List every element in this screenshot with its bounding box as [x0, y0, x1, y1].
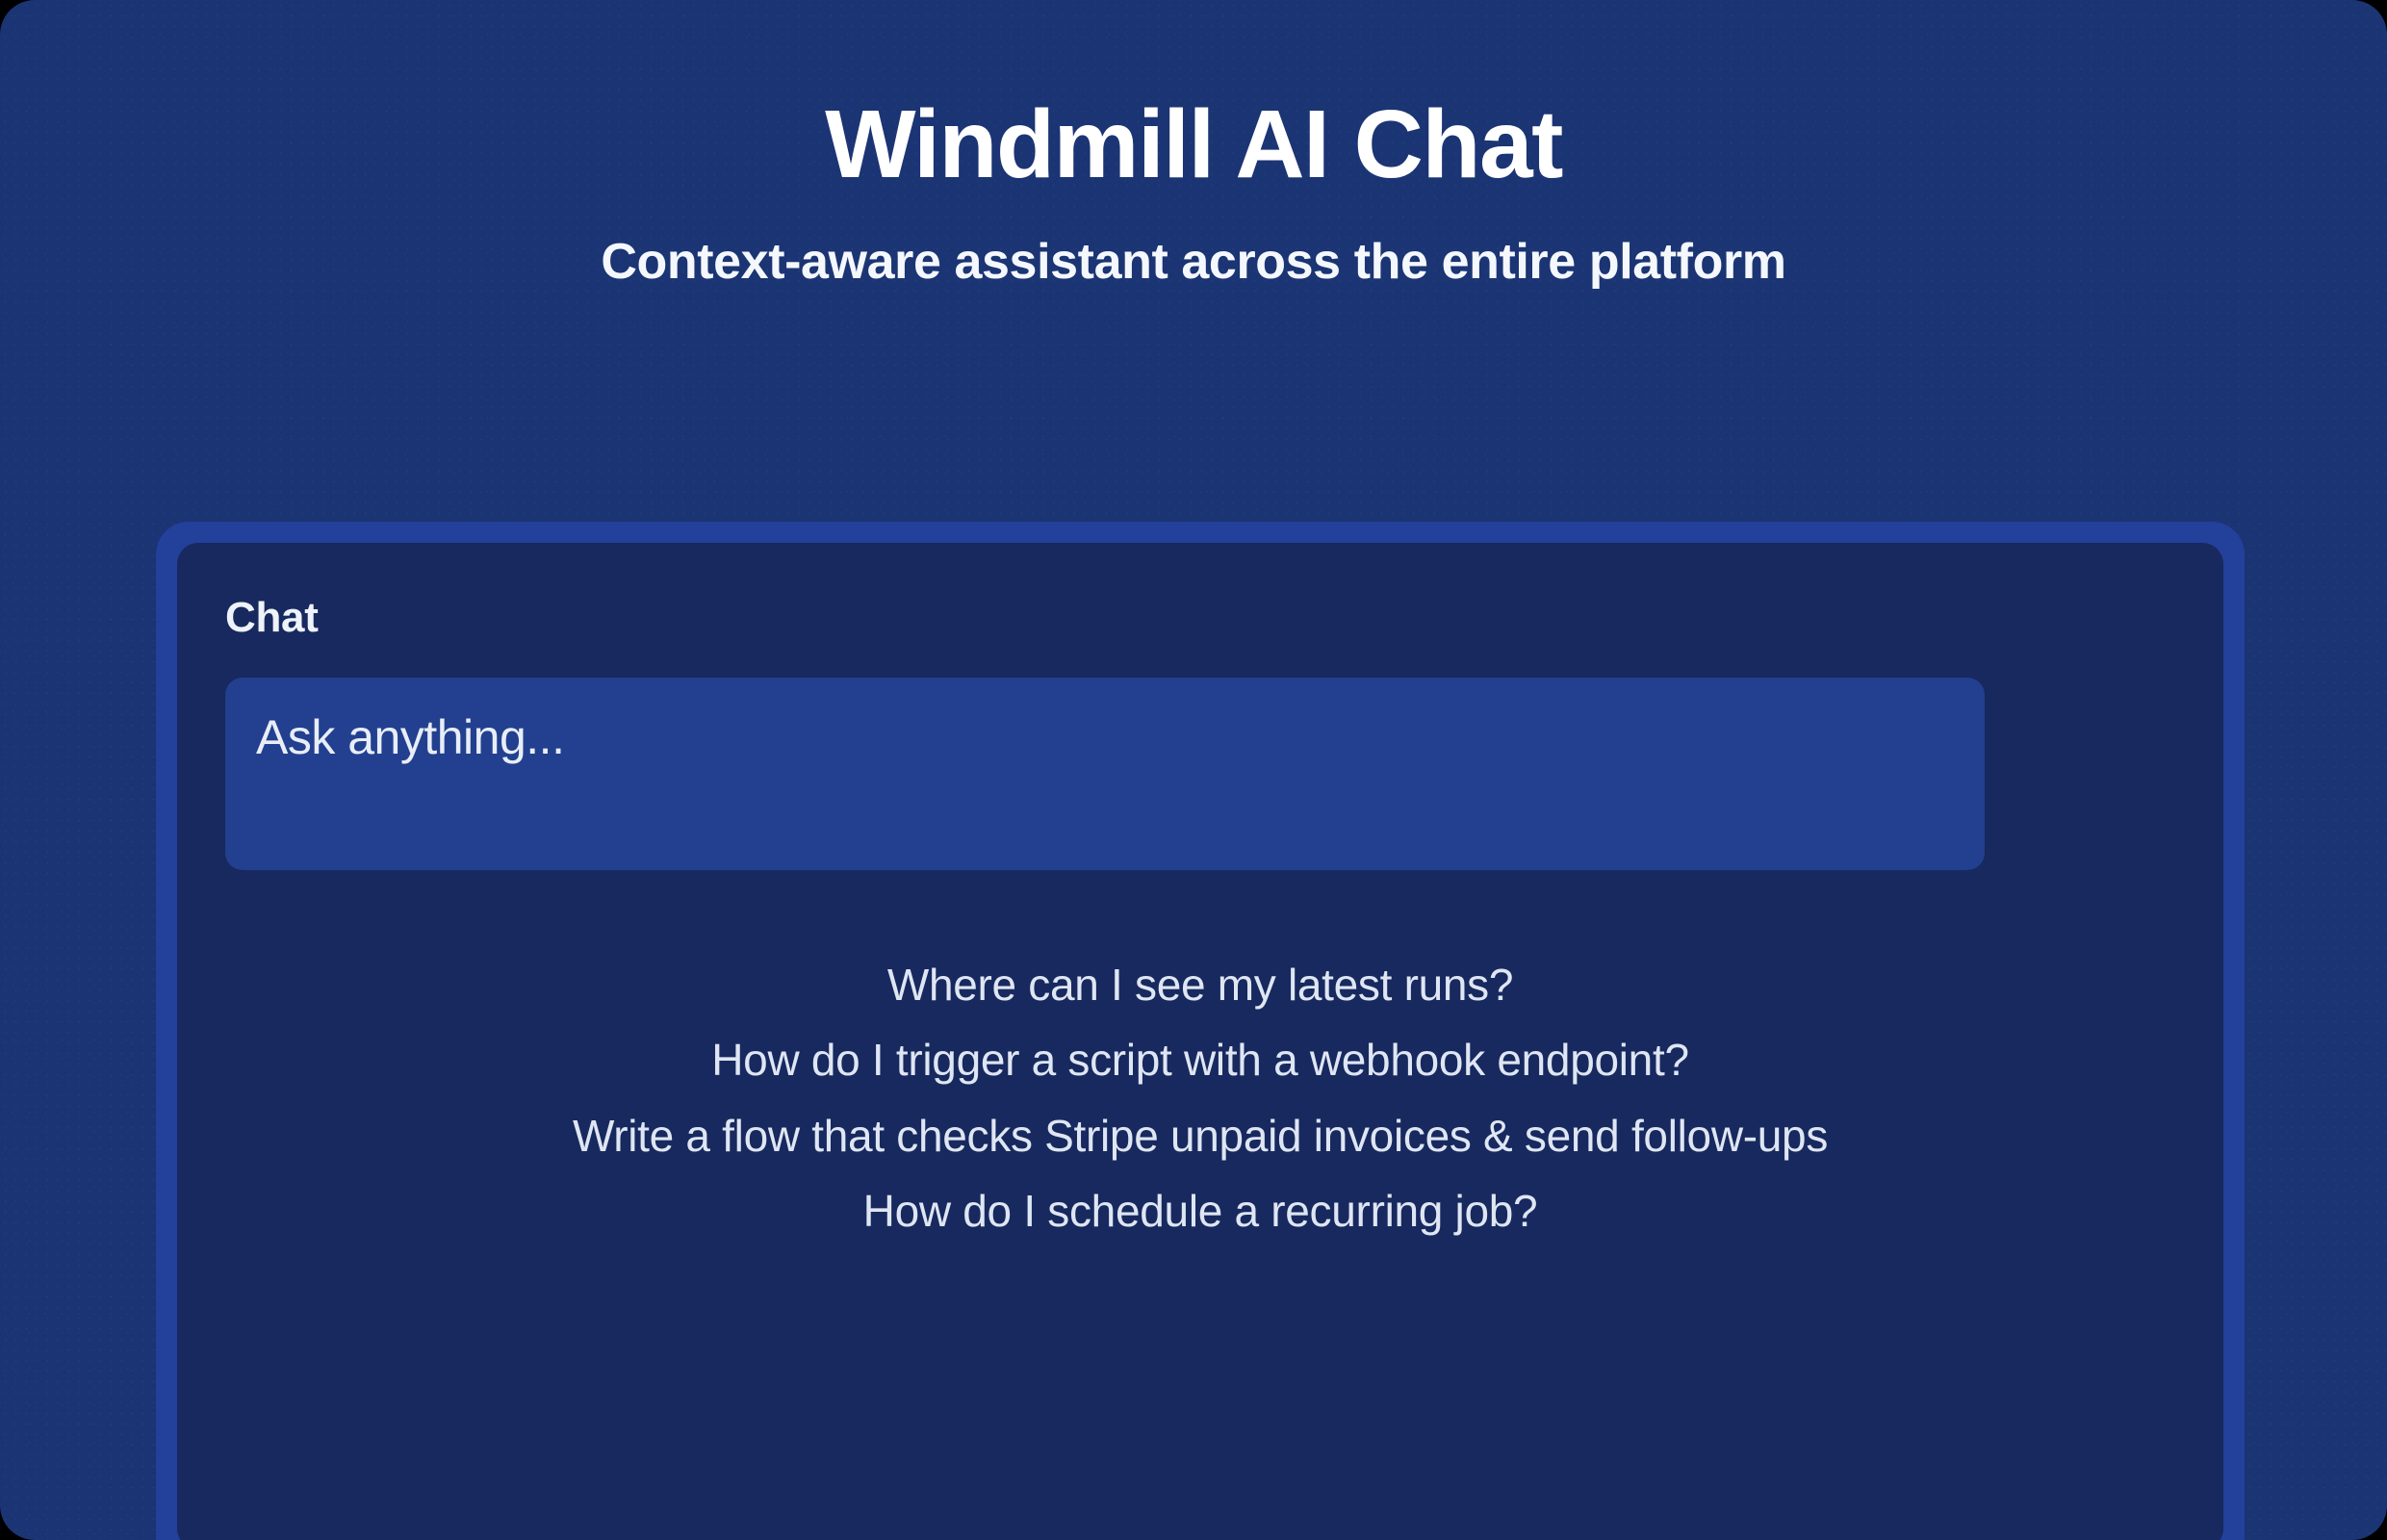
hero-section: Windmill AI Chat Context-aware assistant… — [0, 0, 2387, 290]
chat-panel-title: Chat — [225, 595, 2175, 641]
suggestion-item[interactable]: Where can I see my latest runs? — [225, 947, 2175, 1022]
chat-panel: Chat Ask anything... Where can I see my … — [177, 543, 2223, 1540]
suggestion-item[interactable]: How do I trigger a script with a webhook… — [225, 1022, 2175, 1097]
suggestion-item[interactable]: How do I schedule a recurring job? — [225, 1173, 2175, 1248]
ai-chat-landing-page: Windmill AI Chat Context-aware assistant… — [0, 0, 2387, 1540]
page-title: Windmill AI Chat — [0, 96, 2387, 192]
suggestion-list: Where can I see my latest runs? How do I… — [225, 947, 2175, 1247]
page-subtitle: Context-aware assistant across the entir… — [0, 192, 2387, 290]
chat-card: Chat Ask anything... Where can I see my … — [156, 522, 2245, 1540]
chat-input[interactable]: Ask anything... — [225, 678, 1985, 870]
suggestion-item[interactable]: Write a flow that checks Stripe unpaid i… — [225, 1098, 2175, 1173]
chat-input-placeholder: Ask anything... — [256, 710, 564, 764]
